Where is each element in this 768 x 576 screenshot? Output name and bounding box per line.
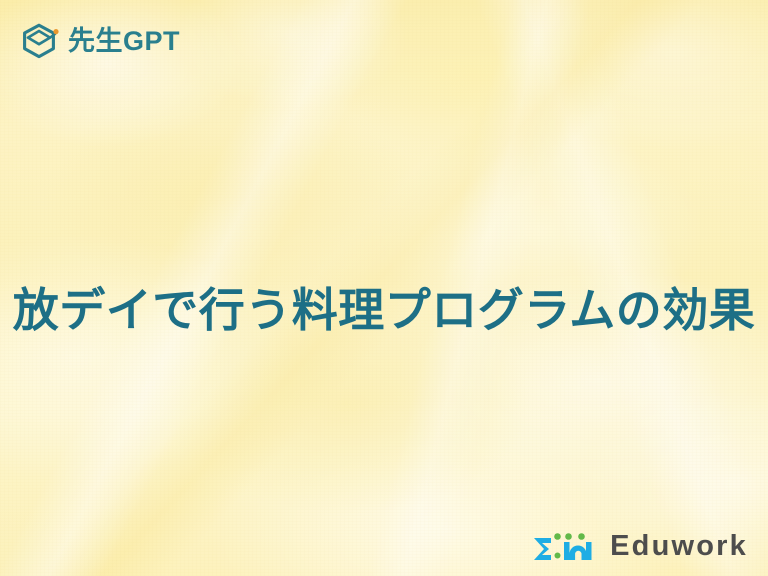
- brand-logo-sensei-gpt: 先生GPT: [18, 20, 180, 62]
- graduation-cap-hexagon-icon: [18, 20, 60, 62]
- footer-logo-label: Eduwork: [610, 532, 748, 561]
- page-title: 放デイで行う料理プログラムの効果: [13, 283, 756, 337]
- title-block: 放デイで行う料理プログラムの効果: [0, 252, 768, 368]
- brand-name-label: 先生GPT: [68, 28, 180, 55]
- footer-logo-eduwork: Eduwork: [530, 528, 748, 564]
- eduwork-logo-icon: [530, 528, 598, 564]
- presentation-slide: 先生GPT 放デイで行う料理プログラムの効果 Eduwork: [0, 0, 768, 576]
